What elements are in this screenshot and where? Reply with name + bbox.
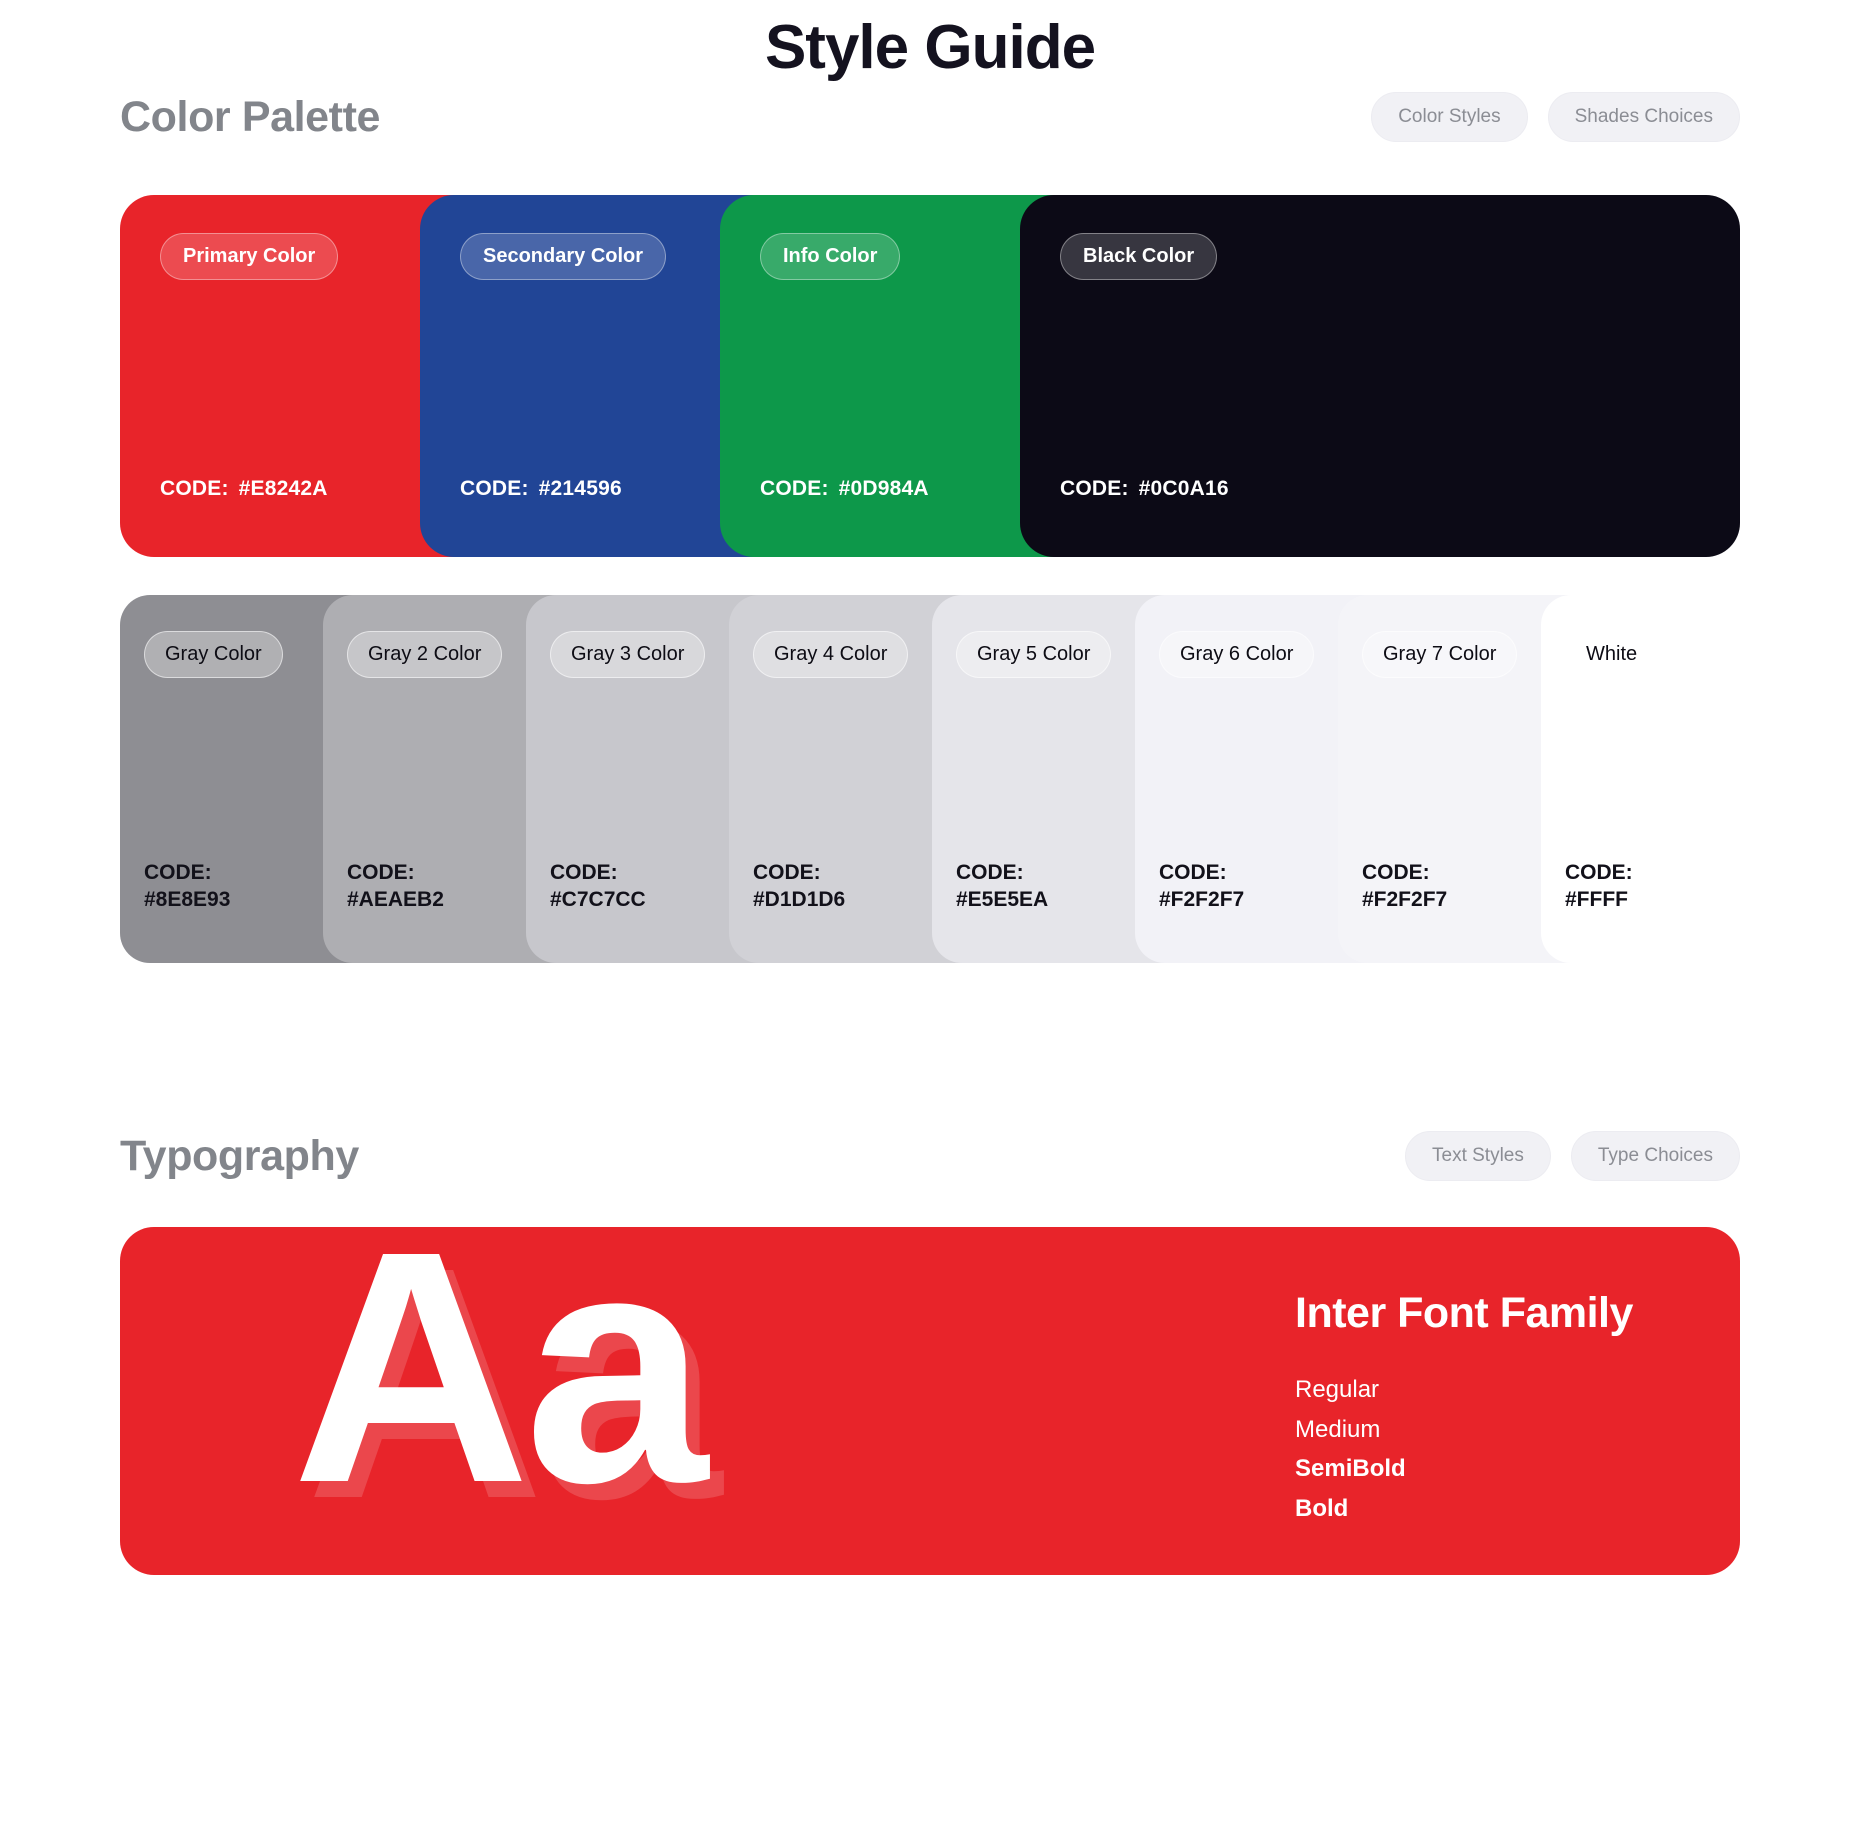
typography-card: Aa Inter Font Family Regular Medium Semi… <box>120 1227 1740 1575</box>
font-sample-glyphs: Aa <box>292 1227 702 1532</box>
font-weight-semibold: SemiBold <box>1295 1449 1633 1489</box>
color-code-value: #E8242A <box>239 477 328 500</box>
gray-color-swatch-row: Gray ColorCODE:#8E8E93Gray 2 ColorCODE:#… <box>120 595 1740 963</box>
page-title: Style Guide <box>0 14 1860 82</box>
font-info: Inter Font Family Regular Medium SemiBol… <box>1295 1289 1633 1528</box>
style-guide-page: Style Guide Color Palette Color Styles S… <box>0 0 1860 1826</box>
font-family-name: Inter Font Family <box>1295 1289 1633 1338</box>
color-code-label: CODE: <box>160 477 229 500</box>
color-name-chip: Primary Color <box>160 233 338 280</box>
gray-name-chip: Gray 6 Color <box>1159 631 1314 678</box>
typography-title: Typography <box>120 1133 359 1180</box>
gray-name-chip: Gray 5 Color <box>956 631 1111 678</box>
gray-swatch-card[interactable]: WhiteCODE:#FFFF <box>1541 595 1748 963</box>
gray-name-chip: Gray 7 Color <box>1362 631 1517 678</box>
font-sample-wrap: Aa <box>292 1227 702 1541</box>
gray-name-chip: Gray 4 Color <box>753 631 908 678</box>
font-weight-regular: Regular <box>1295 1370 1633 1410</box>
typography-header: Typography Text Styles Type Choices <box>120 1121 1740 1181</box>
font-weight-medium: Medium <box>1295 1410 1633 1450</box>
color-code-value: #214596 <box>539 477 622 500</box>
gray-name-chip: Gray 3 Color <box>550 631 705 678</box>
color-name-chip: Secondary Color <box>460 233 666 280</box>
color-name-chip: Black Color <box>1060 233 1217 280</box>
gray-code-value: #FFFF <box>1565 886 1724 913</box>
color-palette-header: Color Palette Color Styles Shades Choice… <box>120 82 1740 142</box>
color-palette-pill-group: Color Styles Shades Choices <box>1371 92 1740 142</box>
color-code-value: #0D984A <box>839 477 929 500</box>
typography-pill-group: Text Styles Type Choices <box>1405 1131 1740 1181</box>
font-weight-bold: Bold <box>1295 1489 1633 1529</box>
gray-name-chip: White <box>1565 631 1658 678</box>
color-name-chip: Info Color <box>760 233 900 280</box>
color-code-label: CODE: <box>760 477 829 500</box>
color-code: CODE:#0C0A16 <box>1060 477 1700 557</box>
color-code-label: CODE: <box>460 477 529 500</box>
color-code-value: #0C0A16 <box>1139 477 1229 500</box>
pill-text-styles[interactable]: Text Styles <box>1405 1131 1551 1181</box>
gray-code: CODE:#FFFF <box>1565 859 1724 964</box>
color-code-label: CODE: <box>1060 477 1129 500</box>
gray-name-chip: Gray 2 Color <box>347 631 502 678</box>
gray-code-label: CODE: <box>1565 859 1724 886</box>
pill-color-styles[interactable]: Color Styles <box>1371 92 1527 142</box>
color-palette-title: Color Palette <box>120 94 380 141</box>
main-color-swatch-row: Primary ColorCODE:#E8242ASecondary Color… <box>120 195 1740 557</box>
pill-type-choices[interactable]: Type Choices <box>1571 1131 1740 1181</box>
bottom-spacer <box>0 1575 1860 1725</box>
pill-shades-choices[interactable]: Shades Choices <box>1548 92 1740 142</box>
color-swatch-card[interactable]: Black ColorCODE:#0C0A16 <box>1020 195 1740 557</box>
gray-name-chip: Gray Color <box>144 631 283 678</box>
